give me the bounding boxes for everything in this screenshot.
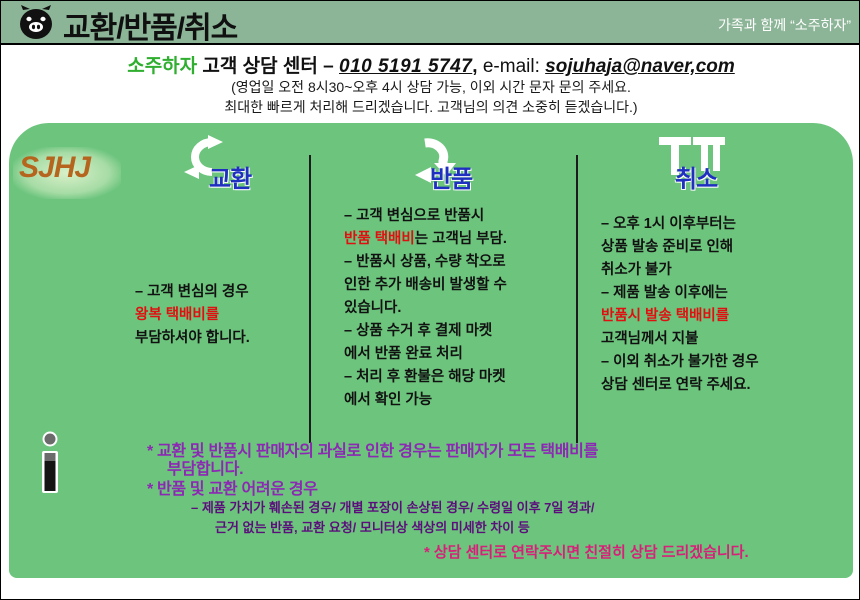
note-nonreturnable-title: *반품 및 교환 어려운 경우 bbox=[147, 475, 318, 499]
comma-separator: , bbox=[472, 56, 477, 77]
page-header: 교환/반품/취소 가족과 함께 “소주하자” bbox=[1, 1, 860, 45]
policy-text: – 제품 발송 이후에는 bbox=[601, 285, 728, 301]
policy-text: 상품 발송 준비로 인해 bbox=[601, 239, 733, 255]
contact-hours-line: (영업일 오전 8시30~오후 4시 상담 가능, 이외 시간 문자 문의 주세… bbox=[1, 77, 860, 97]
policy-line: – 제품 발송 이후에는 bbox=[601, 282, 759, 305]
policy-line: 고객님께서 지불 bbox=[601, 328, 759, 351]
policy-text: – 고객 변심으로 반품시 bbox=[344, 208, 484, 224]
contact-line: 소주하자 고객 상담 센터 – 010 5191 5747, e-mail: s… bbox=[1, 51, 860, 78]
policy-text-highlight: 반품시 발송 택배비를 bbox=[601, 308, 729, 324]
column-heading-return: 반품 bbox=[430, 159, 472, 194]
policy-text: 있습니다. bbox=[344, 300, 401, 316]
policy-line: 반품 택배비는 고객님 부담. bbox=[344, 228, 507, 251]
policy-line: – 오후 1시 이후부터는 bbox=[601, 213, 759, 236]
policy-text: 고객님께서 지불 bbox=[601, 331, 698, 347]
note-nonreturnable-line1: – 제품 가치가 훼손된 경우/ 개별 포장이 손상된 경우/ 수령일 이후 7… bbox=[191, 497, 595, 516]
column-body-return: – 고객 변심으로 반품시 반품 택배비는 고객님 부담. – 반품시 상품, … bbox=[344, 205, 507, 412]
policy-text: 에서 확인 가능 bbox=[344, 392, 432, 408]
policy-line: 에서 반품 완료 처리 bbox=[344, 343, 507, 366]
policy-line: – 고객 변심의 경우 bbox=[135, 281, 250, 304]
column-divider-1 bbox=[309, 155, 311, 443]
policy-line: 부담하셔야 합니다. bbox=[135, 327, 250, 350]
policy-line: 상담 센터로 연락 주세요. bbox=[601, 374, 759, 397]
policy-line: 있습니다. bbox=[344, 297, 507, 320]
note-contact-center: *상담 센터로 연락주시면 친절히 상담 드리겠습니다. bbox=[424, 541, 749, 562]
sjhj-logo: SJHJ bbox=[19, 151, 90, 185]
column-body-exchange: – 고객 변심의 경우 왕복 택배비를 부담하셔야 합니다. bbox=[135, 281, 250, 350]
policy-text: 부담하셔야 합니다. bbox=[135, 330, 250, 346]
column-body-cancel: – 오후 1시 이후부터는 상품 발송 준비로 인해 취소가 불가 – 제품 발… bbox=[601, 213, 759, 397]
contact-center-label: 고객 상담 센터 – bbox=[202, 56, 333, 77]
header-slogan: 가족과 함께 “소주하자” bbox=[718, 15, 851, 35]
policy-text: – 오후 1시 이후부터는 bbox=[601, 216, 736, 232]
policy-line: – 이외 취소가 불가한 경우 bbox=[601, 351, 759, 374]
policy-line: 인한 추가 배송비 발생할 수 bbox=[344, 274, 507, 297]
policy-text: – 이외 취소가 불가한 경우 bbox=[601, 354, 759, 370]
page-root: 교환/반품/취소 가족과 함께 “소주하자” 소주하자 고객 상담 센터 – 0… bbox=[0, 0, 860, 600]
policy-line: – 고객 변심으로 반품시 bbox=[344, 205, 507, 228]
email-address[interactable]: sojuhaja@naver,com bbox=[545, 56, 735, 77]
policy-line: 상품 발송 준비로 인해 bbox=[601, 236, 759, 259]
policy-text: – 처리 후 환불은 해당 마켓 bbox=[344, 369, 506, 385]
policy-text: 취소가 불가 bbox=[601, 262, 672, 278]
policy-panel: SJHJ 교환 – 고객 변심의 경우 왕복 택배비를 부담하셔야 합 bbox=[9, 123, 853, 578]
policy-line: – 처리 후 환불은 해당 마켓 bbox=[344, 366, 507, 389]
note-nonreturnable-line2: 근거 없는 반품, 교환 요청/ 모니터상 색상의 미세한 차이 등 bbox=[215, 517, 530, 536]
bullet-star: * bbox=[424, 544, 430, 561]
note-text: 반품 및 교환 어려운 경우 bbox=[157, 481, 318, 498]
policy-text: – 고객 변심의 경우 bbox=[135, 284, 249, 300]
policy-text-highlight: 반품 택배비 bbox=[344, 231, 415, 247]
note-text: 상담 센터로 연락주시면 친절히 상담 드리겠습니다. bbox=[434, 544, 749, 561]
policy-line: – 상품 수거 후 결제 마켓 bbox=[344, 320, 507, 343]
phone-number[interactable]: 010 5191 5747 bbox=[339, 56, 472, 77]
policy-line: 반품시 발송 택배비를 bbox=[601, 305, 759, 328]
policy-text-highlight: 왕복 택배비를 bbox=[135, 307, 219, 323]
policy-line: 왕복 택배비를 bbox=[135, 304, 250, 327]
bullet-star: * bbox=[147, 481, 153, 498]
brand-name: 소주하자 bbox=[127, 56, 197, 77]
policy-text: – 반품시 상품, 수량 착오로 bbox=[344, 254, 506, 270]
policy-line: 에서 확인 가능 bbox=[344, 389, 507, 412]
email-label: e-mail: bbox=[483, 56, 540, 77]
info-i-icon bbox=[39, 431, 61, 493]
contact-promise-line: 최대한 빠르게 처리해 드리겠습니다. 고객님의 의견 소중히 듣겠습니다.) bbox=[1, 97, 860, 117]
bullet-star: * bbox=[147, 443, 153, 460]
policy-text: 인한 추가 배송비 발생할 수 bbox=[344, 277, 507, 293]
policy-text: 는 고객님 부담. bbox=[415, 231, 507, 247]
policy-text: – 상품 수거 후 결제 마켓 bbox=[344, 323, 492, 339]
page-title: 교환/반품/취소 bbox=[63, 3, 237, 47]
policy-line: – 반품시 상품, 수량 착오로 bbox=[344, 251, 507, 274]
column-heading-exchange: 교환 bbox=[209, 159, 251, 194]
column-divider-2 bbox=[576, 155, 578, 443]
policy-line: 취소가 불가 bbox=[601, 259, 759, 282]
column-heading-cancel: 취소 bbox=[675, 159, 717, 194]
policy-text: 에서 반품 완료 처리 bbox=[344, 346, 463, 362]
policy-text: 상담 센터로 연락 주세요. bbox=[601, 377, 751, 393]
pig-face-icon bbox=[17, 5, 55, 41]
